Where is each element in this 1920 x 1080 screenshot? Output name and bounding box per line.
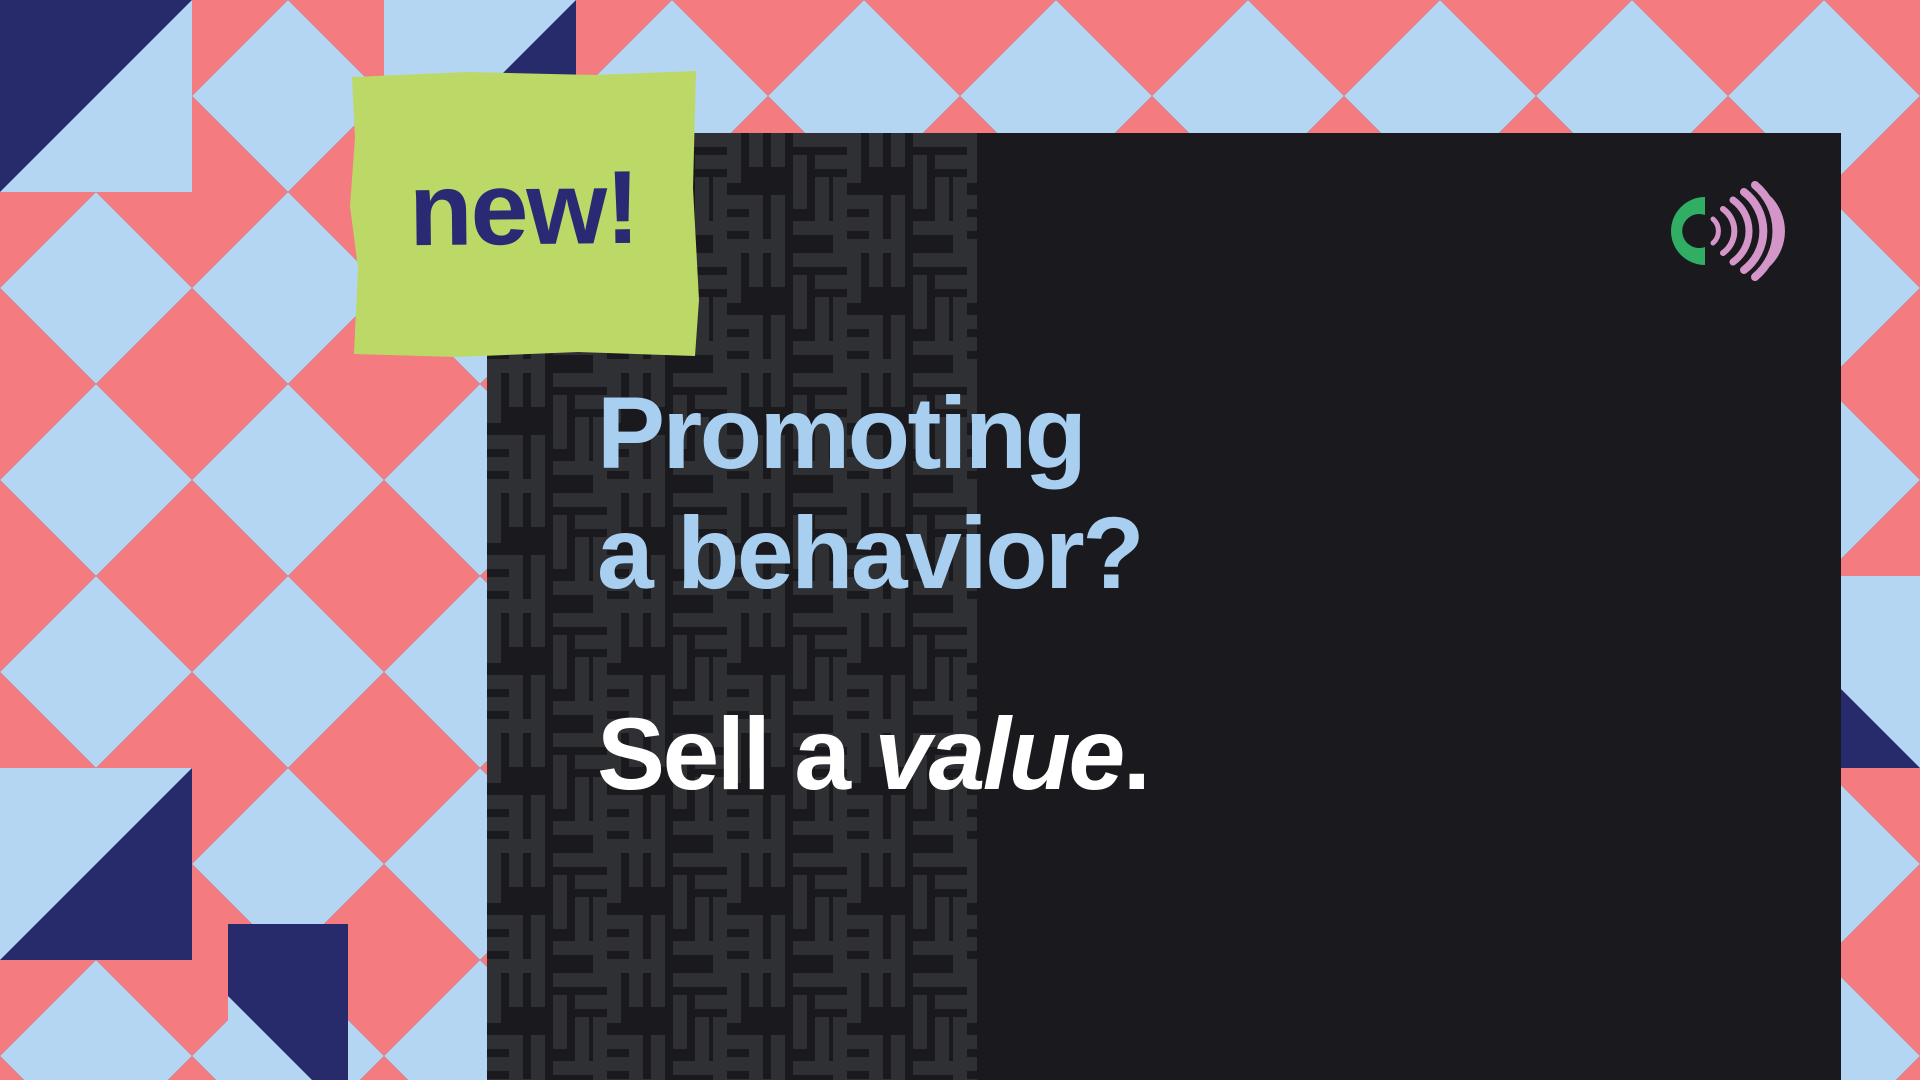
headline-line-1: Promoting xyxy=(597,373,1797,493)
new-badge-label: new! xyxy=(346,66,700,360)
podcast-logo-icon xyxy=(1631,171,1799,291)
headline-line-2: a behavior? xyxy=(597,493,1797,613)
subhead-suffix: . xyxy=(1123,697,1149,811)
subhead: Sell a value. xyxy=(597,698,1797,810)
subhead-prefix: Sell a xyxy=(597,697,874,811)
logo-c-mark xyxy=(1671,197,1705,265)
new-badge: new! xyxy=(348,68,699,358)
promo-graphic: Promoting a behavior? Sell a value. by A… xyxy=(0,0,1920,1080)
text-block: Promoting a behavior? Sell a value. xyxy=(597,373,1797,810)
subhead-emphasis: value xyxy=(874,697,1122,811)
